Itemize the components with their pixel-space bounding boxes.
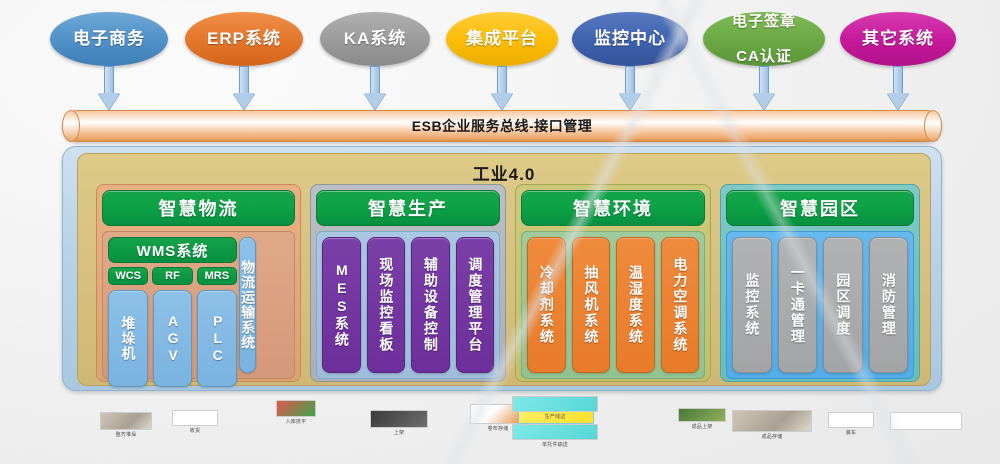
module-scheduling-management-platform[interactable]: 调度管理平台 xyxy=(456,237,495,373)
diagram-canvas: 电子商务 ERP系统 KA系统 集成平台 监控中心 电子签章 CA认证 其它系统 xyxy=(0,0,1000,464)
external-system-label: 电子商务 xyxy=(73,29,145,49)
process-thumb-loading xyxy=(370,410,428,428)
process-step xyxy=(890,412,962,430)
arrow-head xyxy=(364,93,386,110)
arrow-shaft xyxy=(497,66,507,94)
esb-cap-left xyxy=(62,110,80,142)
process-thumb-receiving xyxy=(172,410,218,426)
wms-sub-badges: WCS RF MRS xyxy=(108,267,237,285)
arrow-head xyxy=(619,93,641,110)
module-fire-protection-management[interactable]: 消防管理 xyxy=(869,237,909,373)
external-system-integration-platform[interactable]: 集成平台 xyxy=(446,12,558,66)
external-system-label: 电子签章 CA认证 xyxy=(732,13,796,65)
external-system-label-line2: CA认证 xyxy=(732,48,796,65)
external-system-ka[interactable]: KA系统 xyxy=(320,12,430,66)
process-step: 装车 xyxy=(828,412,874,436)
external-system-ecommerce[interactable]: 电子商务 xyxy=(50,12,168,66)
domain-body-smart-environment: 冷却剂系统 抽风机系统 温湿度系统 电力空调系统 xyxy=(521,231,705,379)
logistics-left-column: WMS系统 WCS RF MRS 堆垛机 AGV PLC xyxy=(108,237,237,373)
module-surveillance-system[interactable]: 监控系统 xyxy=(732,237,772,373)
page-title: 工业4.0 xyxy=(78,160,930,185)
flow-arrow-ca-signature xyxy=(753,66,775,112)
process-flow-strip: 整齐堆垛 收货 入库抚平 上架 卷布存储 AGV配送 生产线边 xyxy=(100,396,900,448)
external-system-label-line1: 电子签章 xyxy=(732,13,796,30)
logistics-devices: 堆垛机 AGV PLC xyxy=(108,290,237,387)
process-step: 整齐堆垛 xyxy=(100,412,152,438)
module-transport-system[interactable]: 物流运输系统 xyxy=(239,237,256,373)
module-agv[interactable]: AGV xyxy=(153,290,193,387)
process-caption: 生产线边 xyxy=(512,413,598,420)
domain-smart-environment[interactable]: 智慧环境 冷却剂系统 抽风机系统 温湿度系统 电力空调系统 xyxy=(515,184,711,382)
module-all-in-one-card-management[interactable]: 一卡通管理 xyxy=(778,237,818,373)
process-step: 单托件输送 xyxy=(512,424,598,448)
esb-service-bus[interactable]: ESB企业服务总线-接口管理 xyxy=(62,110,942,142)
esb-cap-right xyxy=(924,110,942,142)
arrow-head xyxy=(887,93,909,110)
domain-body-smart-park: 监控系统 一卡通管理 园区调度 消防管理 xyxy=(726,231,914,379)
arrow-head xyxy=(98,93,120,110)
process-caption: 单托件输送 xyxy=(512,441,598,448)
process-step: 成品存储 xyxy=(732,410,812,440)
module-plc[interactable]: PLC xyxy=(197,290,237,387)
flow-arrow-erp xyxy=(233,66,255,112)
module-auxiliary-equipment-control[interactable]: 辅助设备控制 xyxy=(411,237,450,373)
logistics-modules: WMS系统 WCS RF MRS 堆垛机 AGV PLC xyxy=(108,237,289,373)
flow-arrow-ecommerce xyxy=(98,66,120,112)
process-step: 生产线边 xyxy=(512,396,598,420)
external-system-label: 监控中心 xyxy=(594,29,666,49)
process-thumb-inbound xyxy=(276,400,316,417)
process-caption: 上架 xyxy=(370,429,428,436)
domain-body-smart-logistics: WMS系统 WCS RF MRS 堆垛机 AGV PLC xyxy=(102,231,295,379)
domain-body-smart-production: MES系统 现场监控看板 辅助设备控制 调度管理平台 xyxy=(316,231,500,379)
production-modules: MES系统 现场监控看板 辅助设备控制 调度管理平台 xyxy=(322,237,494,373)
module-power-hvac-system[interactable]: 电力空调系统 xyxy=(661,237,700,373)
domain-title-smart-logistics: 智慧物流 xyxy=(102,190,295,226)
domain-title-smart-production: 智慧生产 xyxy=(316,190,500,226)
arrow-shaft xyxy=(239,66,249,94)
logistics-right-column: 物流运输系统 xyxy=(239,237,289,373)
external-system-other[interactable]: 其它系统 xyxy=(840,12,956,66)
flow-arrow-integration-platform xyxy=(491,66,513,112)
arrow-head xyxy=(753,93,775,110)
arrow-shaft xyxy=(370,66,380,94)
arrow-shaft xyxy=(104,66,114,94)
flow-arrow-other xyxy=(887,66,909,112)
module-mes-system[interactable]: MES系统 xyxy=(322,237,361,373)
external-system-label: ERP系统 xyxy=(207,29,281,49)
process-step: 上架 xyxy=(370,410,428,436)
flow-arrow-monitoring-center xyxy=(619,66,641,112)
process-thumb-truck xyxy=(890,412,962,430)
process-caption: 入库抚平 xyxy=(276,418,316,425)
domain-title-smart-environment: 智慧环境 xyxy=(521,190,705,226)
external-system-label: 其它系统 xyxy=(862,29,934,49)
process-thumb-production-line xyxy=(512,396,598,412)
badge-mrs[interactable]: MRS xyxy=(197,267,237,285)
process-thumb-pallet-conveying xyxy=(512,424,598,440)
module-stacker-crane[interactable]: 堆垛机 xyxy=(108,290,148,387)
industry40-panel: 工业4.0 智慧物流 WMS系统 WCS RF MRS xyxy=(62,146,942,391)
industry40-inner-panel: 工业4.0 智慧物流 WMS系统 WCS RF MRS xyxy=(77,153,931,386)
flow-arrow-ka xyxy=(364,66,386,112)
arrow-shaft xyxy=(759,66,769,94)
module-park-scheduling[interactable]: 园区调度 xyxy=(823,237,863,373)
process-thumb-finished-storage xyxy=(732,410,812,432)
process-step: 入库抚平 xyxy=(276,400,316,425)
domain-title-smart-park: 智慧园区 xyxy=(726,190,914,226)
arrow-head xyxy=(491,93,513,110)
external-system-label: 集成平台 xyxy=(466,29,538,49)
process-thumb-finished-shelving xyxy=(678,408,726,422)
process-caption: 整齐堆垛 xyxy=(100,431,152,438)
process-caption: 成品上架 xyxy=(678,423,726,430)
external-system-label: KA系统 xyxy=(344,29,407,49)
module-exhaust-fan-system[interactable]: 抽风机系统 xyxy=(572,237,611,373)
badge-wcs[interactable]: WCS xyxy=(108,267,148,285)
domain-smart-logistics[interactable]: 智慧物流 WMS系统 WCS RF MRS 堆垛机 xyxy=(96,184,301,382)
domain-smart-park[interactable]: 智慧园区 监控系统 一卡通管理 园区调度 消防管理 xyxy=(720,184,920,382)
module-temperature-humidity-system[interactable]: 温湿度系统 xyxy=(616,237,655,373)
external-system-erp[interactable]: ERP系统 xyxy=(185,12,303,66)
process-step: 收货 xyxy=(172,410,218,434)
domain-smart-production[interactable]: 智慧生产 MES系统 现场监控看板 辅助设备控制 调度管理平台 xyxy=(310,184,506,382)
external-system-ca-signature[interactable]: 电子签章 CA认证 xyxy=(703,12,825,66)
process-caption: 成品存储 xyxy=(732,433,812,440)
arrow-shaft xyxy=(625,66,635,94)
process-thumb-stacking xyxy=(100,412,152,430)
module-wms-system[interactable]: WMS系统 xyxy=(108,237,237,263)
process-caption: 装车 xyxy=(828,429,874,436)
esb-label: ESB企业服务总线-接口管理 xyxy=(412,116,592,136)
module-coolant-system[interactable]: 冷却剂系统 xyxy=(527,237,566,373)
arrow-head xyxy=(233,93,255,110)
badge-rf[interactable]: RF xyxy=(152,267,192,285)
module-field-monitoring-board[interactable]: 现场监控看板 xyxy=(367,237,406,373)
arrow-shaft xyxy=(893,66,903,94)
process-caption: 收货 xyxy=(172,427,218,434)
park-modules: 监控系统 一卡通管理 园区调度 消防管理 xyxy=(732,237,908,373)
external-system-monitoring-center[interactable]: 监控中心 xyxy=(572,12,688,66)
process-thumb-truck-loading xyxy=(828,412,874,428)
process-step: 成品上架 xyxy=(678,408,726,430)
environment-modules: 冷却剂系统 抽风机系统 温湿度系统 电力空调系统 xyxy=(527,237,699,373)
